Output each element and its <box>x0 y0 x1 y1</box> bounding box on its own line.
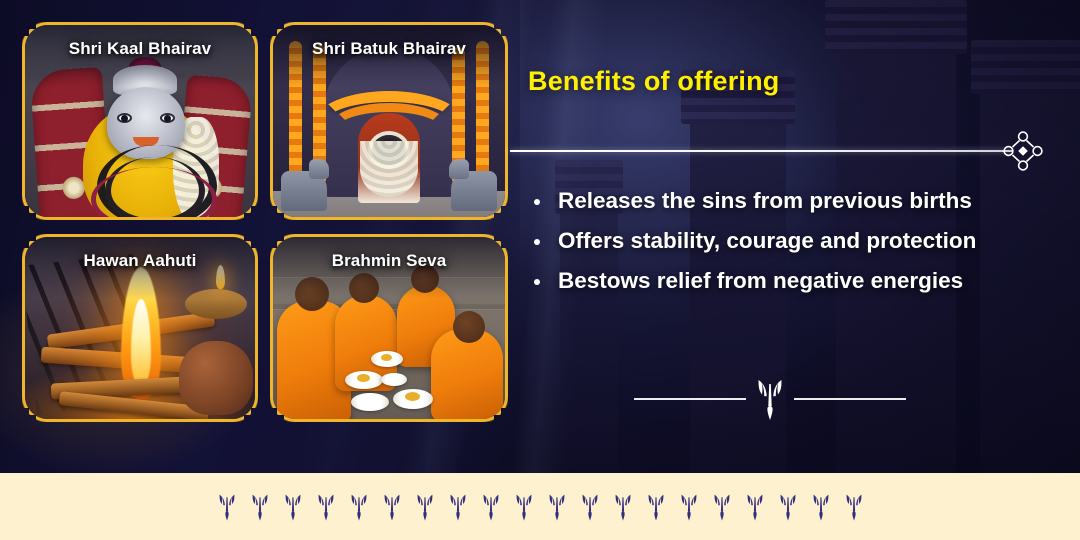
trishul-icon <box>414 492 436 522</box>
food-plate <box>351 393 389 411</box>
trishul-divider <box>634 378 906 420</box>
title-underline <box>510 150 1012 152</box>
food-item <box>357 374 370 382</box>
trishul-icon <box>810 492 832 522</box>
trishul-icon <box>282 492 304 522</box>
food-plate <box>381 373 407 386</box>
trishul-icon <box>513 492 535 522</box>
trishul-icon <box>753 378 787 420</box>
trishul-icon <box>249 492 271 522</box>
card-label-hawan-aahuti: Hawan Aahuti <box>25 251 255 271</box>
image-card-kaal-bhairav[interactable]: Shri Kaal Bhairav <box>22 22 258 220</box>
trishul-icon <box>678 492 700 522</box>
trishul-icon <box>843 492 865 522</box>
trishul-icon <box>216 492 238 522</box>
trishul-icon <box>777 492 799 522</box>
trishul-icon <box>315 492 337 522</box>
trishul-icon <box>381 492 403 522</box>
trishul-icon <box>546 492 568 522</box>
pupil-right <box>164 115 171 122</box>
page-title: Benefits of offering <box>528 66 780 97</box>
card-label-brahmin-seva: Brahmin Seva <box>273 251 505 271</box>
food-item <box>381 354 392 361</box>
trishul-icon <box>447 492 469 522</box>
brahmin-head <box>453 311 485 343</box>
card-label-batuk-bhairav: Shri Batuk Bhairav <box>273 39 505 59</box>
image-card-batuk-bhairav[interactable]: Shri Batuk Bhairav <box>270 22 508 220</box>
medallion <box>62 176 85 199</box>
trishul-icon <box>645 492 667 522</box>
four-lobed-knot-ornament <box>1002 130 1044 172</box>
stone-dog-right <box>451 171 497 211</box>
benefit-item: Bestows relief from negative energies <box>524 261 1054 301</box>
trishul-icon <box>711 492 733 522</box>
card-label-kaal-bhairav: Shri Kaal Bhairav <box>25 39 255 59</box>
footer-strip <box>0 473 1080 540</box>
divider-line-left <box>634 398 746 400</box>
stone-dog-left <box>281 171 327 211</box>
trishul-icon <box>480 492 502 522</box>
marigold-swag <box>328 103 450 155</box>
trishul-icon <box>744 492 766 522</box>
trishul-icon <box>612 492 634 522</box>
pupil-left <box>121 115 128 122</box>
benefit-item: Releases the sins from previous births <box>524 181 1054 221</box>
promo-banner: Shri Kaal Bhairav Shri Batuk Bhairav <box>0 0 1080 540</box>
benefits-list: Releases the sins from previous births O… <box>524 181 1054 301</box>
food-item <box>405 392 420 401</box>
benefit-item: Offers stability, courage and protection <box>524 221 1054 261</box>
clay-pot <box>179 341 253 415</box>
divider-line-right <box>794 398 906 400</box>
trishul-icon <box>579 492 601 522</box>
image-card-brahmin-seva[interactable]: Brahmin Seva <box>270 234 508 422</box>
image-card-hawan-aahuti[interactable]: Hawan Aahuti <box>22 234 258 422</box>
trishul-icon <box>348 492 370 522</box>
trishul-pattern-row <box>216 492 865 522</box>
